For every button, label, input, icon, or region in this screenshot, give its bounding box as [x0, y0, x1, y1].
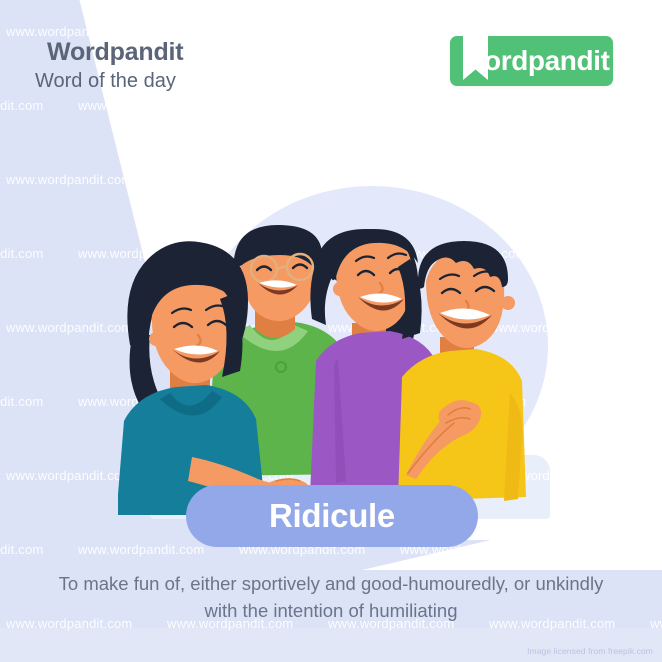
image-credit: Image licensed from freepik.com: [527, 646, 653, 656]
definition-line-1: To make fun of, either sportively and go…: [18, 570, 644, 597]
word-of-the-day-card: www.wordpandit.comwww.wordpandit.comwww.…: [0, 0, 662, 662]
definition-line-2: with the intention of humiliating: [18, 597, 644, 624]
wordpandit-logo[interactable]: ordpandit: [450, 36, 613, 86]
four-laughing-people-illustration: [118, 225, 538, 515]
word-term: Ridicule: [269, 497, 395, 535]
page-title: Wordpandit: [47, 38, 183, 67]
page-subtitle: Word of the day: [35, 70, 176, 93]
word-pill: Ridicule: [186, 485, 478, 547]
background-footer-strip: [0, 628, 662, 662]
definition-text: To make fun of, either sportively and go…: [18, 570, 644, 624]
logo-label: ordpandit: [484, 45, 610, 77]
